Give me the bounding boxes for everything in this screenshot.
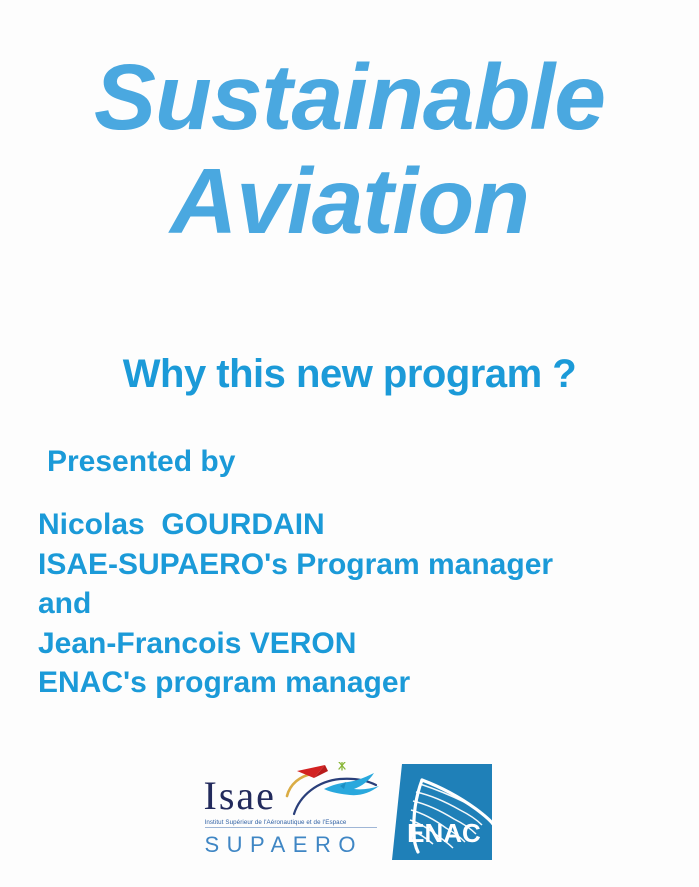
enac-emblem-icon: ENAC	[386, 762, 498, 862]
presented-by-label: Presented by	[47, 445, 235, 479]
slide-subtitle: Why this new program ?	[0, 352, 699, 397]
isae-tagline: Institut Supérieur de l'Aéronautique et …	[205, 819, 377, 828]
isae-supaero-logo: Isae Institut Supérieur de l	[202, 762, 384, 862]
isae-emblem-icon	[284, 762, 384, 820]
presenter-line: ENAC's program manager	[38, 663, 678, 703]
presenter-line: Nicolas GOURDAIN	[38, 505, 678, 545]
isae-wordmark: Isae	[204, 776, 276, 816]
title-line-aviation: Aviation	[0, 156, 699, 247]
enac-logo: ENAC	[386, 762, 498, 862]
presenter-line: ISAE-SUPAERO's Program manager	[38, 545, 678, 585]
isae-supaero-wordmark: SUPAERO	[205, 834, 363, 856]
presenter-line: Jean-Francois VERON	[38, 624, 678, 664]
presenter-line: and	[38, 584, 678, 624]
slide-title: Sustainable Aviation	[0, 52, 699, 247]
presenter-list: Nicolas GOURDAIN ISAE-SUPAERO's Program …	[38, 505, 678, 703]
enac-wordmark-text: ENAC	[407, 818, 481, 848]
logo-row: Isae Institut Supérieur de l	[0, 762, 699, 870]
presentation-slide: Sustainable Aviation Why this new progra…	[0, 0, 699, 887]
title-line-sustainable: Sustainable	[0, 52, 699, 143]
